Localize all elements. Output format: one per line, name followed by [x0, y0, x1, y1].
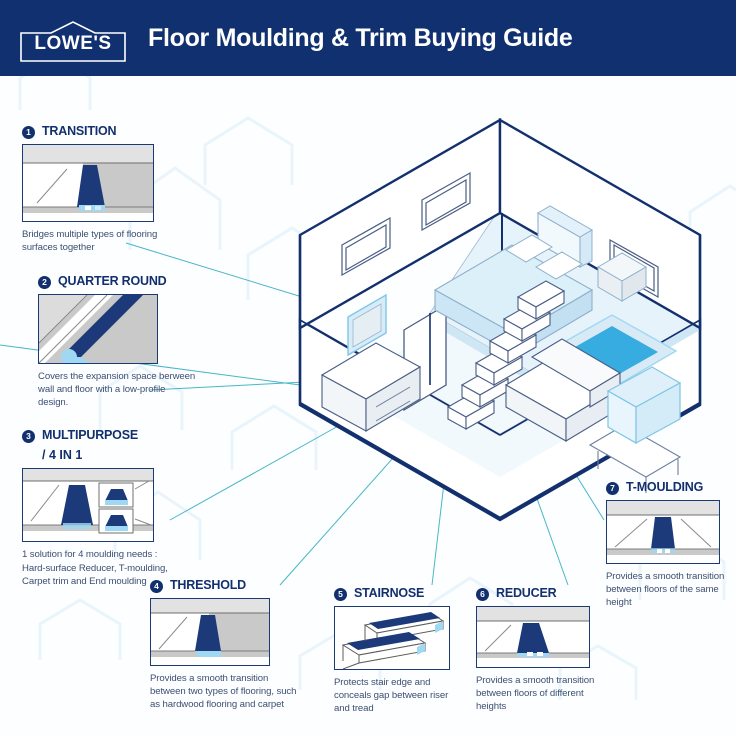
item-quarter-round-title: QUARTER ROUND — [58, 274, 167, 288]
item-stairnose: 5 STAIRNOSE Protects stair edge and — [334, 586, 464, 716]
item-quarter-round-badge: 2 — [38, 276, 51, 289]
item-multipurpose-title: MULTIPURPOSE — [42, 428, 138, 442]
item-transition-badge: 1 — [22, 126, 35, 139]
item-transition: 1 TRANSITION Bridges multiple types of f… — [22, 124, 174, 254]
item-quarter-round-header: 2 QUARTER ROUND — [38, 274, 198, 289]
item-transition-caption: Bridges multiple types of flooring surfa… — [22, 228, 174, 254]
item-quarter-round: 2 QUARTER ROUND Covers the expansion spa… — [38, 274, 198, 410]
infographic-page: LOWE'S Floor Moulding & Trim Buying Guid… — [0, 0, 736, 736]
item-multipurpose-illustration — [22, 468, 154, 542]
item-quarter-round-caption: Covers the expansion space berween wall … — [38, 370, 198, 410]
item-transition-header: 1 TRANSITION — [22, 124, 174, 139]
item-t-moulding: 7 T-MOULDING Provides a smooth transitio… — [606, 480, 730, 610]
item-reducer-title: REDUCER — [496, 586, 556, 600]
item-transition-title: TRANSITION — [42, 124, 116, 138]
item-threshold-header: 4 THRESHOLD — [150, 578, 300, 593]
item-stairnose-title: STAIRNOSE — [354, 586, 424, 600]
item-multipurpose: 3 MULTIPURPOSE / 4 IN 1 — [22, 428, 182, 588]
item-t-moulding-illustration — [606, 500, 720, 564]
item-transition-illustration — [22, 144, 154, 222]
item-t-moulding-header: 7 T-MOULDING — [606, 480, 730, 495]
item-quarter-round-illustration — [38, 294, 158, 364]
item-threshold-caption: Provides a smooth transition between two… — [150, 672, 300, 712]
item-multipurpose-badge: 3 — [22, 430, 35, 443]
item-threshold-badge: 4 — [150, 580, 163, 593]
item-reducer: 6 REDUCER Provides a smooth transition b… — [476, 586, 610, 714]
item-multipurpose-subtitle: / 4 IN 1 — [22, 448, 182, 462]
item-multipurpose-header: 3 MULTIPURPOSE — [22, 428, 182, 443]
item-t-moulding-caption: Provides a smooth transition between flo… — [606, 570, 730, 610]
item-stairnose-badge: 5 — [334, 588, 347, 601]
item-reducer-caption: Provides a smooth transition between flo… — [476, 674, 610, 714]
item-t-moulding-title: T-MOULDING — [626, 480, 703, 494]
item-reducer-header: 6 REDUCER — [476, 586, 610, 601]
item-stairnose-illustration — [334, 606, 450, 670]
item-reducer-badge: 6 — [476, 588, 489, 601]
item-stairnose-caption: Protects stair edge and conceals gap bet… — [334, 676, 464, 716]
item-t-moulding-badge: 7 — [606, 482, 619, 495]
item-reducer-illustration — [476, 606, 590, 668]
item-threshold-illustration — [150, 598, 270, 666]
item-stairnose-header: 5 STAIRNOSE — [334, 586, 464, 601]
item-threshold: 4 THRESHOLD Provides a smooth transition… — [150, 578, 300, 712]
item-threshold-title: THRESHOLD — [170, 578, 246, 592]
